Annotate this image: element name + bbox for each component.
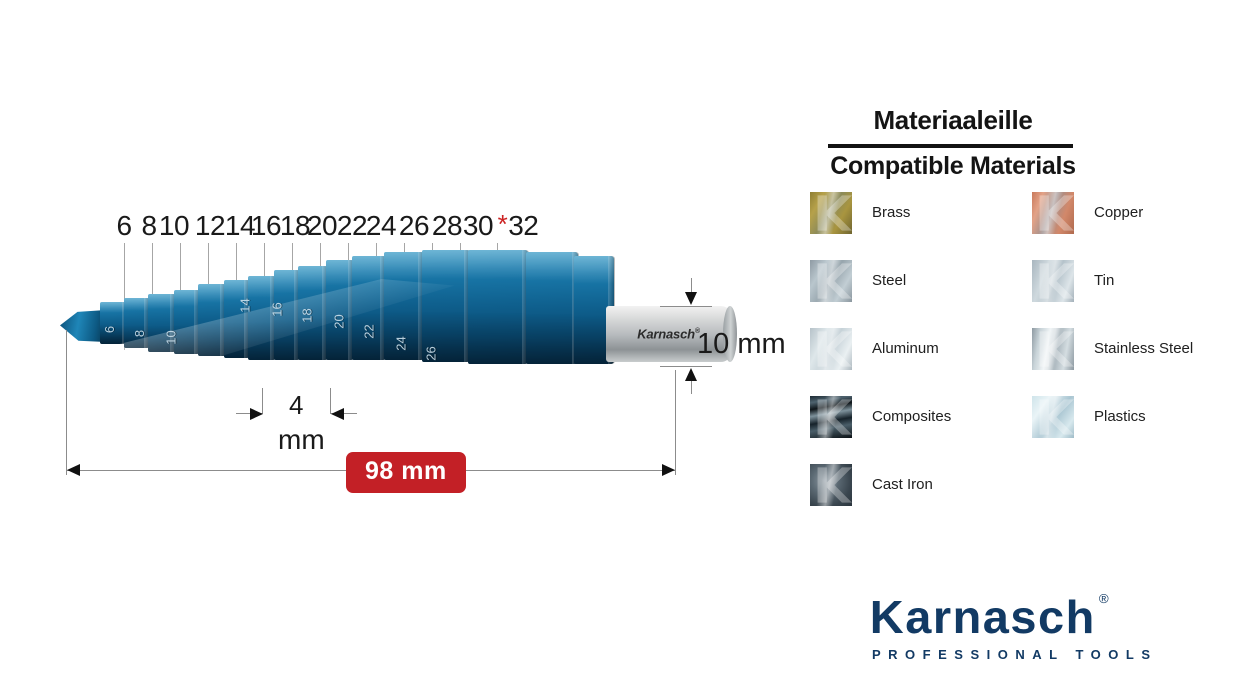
material-label: Aluminum: [872, 340, 939, 357]
shank-dia-arrow-down: [685, 292, 697, 305]
drill-step-14: [468, 250, 528, 364]
drill-step-13: [422, 250, 470, 362]
swatch-sheen: [810, 328, 852, 370]
swatch-sheen: [810, 396, 852, 438]
material-label: Stainless Steel: [1094, 340, 1193, 357]
step-size-8: 8: [141, 212, 156, 240]
registered-trademark-icon: ®: [1099, 592, 1110, 605]
step-size-12: 12: [195, 212, 225, 240]
step-size-label: 8: [141, 210, 156, 241]
step-size-18: 18: [280, 212, 310, 240]
materials-column-left: BrassSteelAluminumCompositesCast Iron: [810, 192, 1032, 532]
tin-swatch: [1032, 260, 1074, 302]
material-item: Brass: [810, 192, 1032, 260]
aluminum-swatch: [810, 328, 852, 370]
asterisk-icon: *: [498, 209, 508, 239]
length-arrow-left: [67, 464, 80, 476]
karnasch-logo: Karnasch ® PROFESSIONAL TOOLS: [872, 594, 1192, 664]
step-size-label: 10: [159, 210, 189, 241]
engraved-size-26: 26: [424, 346, 439, 360]
brand-wordmark: Karnasch ®: [870, 594, 1096, 640]
brand-tagline: PROFESSIONAL TOOLS: [872, 647, 1192, 662]
shank-diameter-value: 10 mm: [697, 328, 786, 361]
shank-dia-ext-bottom: [660, 366, 712, 367]
shank-dia-arrow-up: [685, 368, 697, 381]
step-size-label: 26: [399, 210, 429, 241]
drill-step-7: [248, 276, 276, 360]
step-size-24: 24: [366, 212, 396, 240]
engraved-size-10: 10: [164, 330, 179, 344]
step-size-label: 30: [463, 210, 493, 241]
material-label: Composites: [872, 408, 951, 425]
plastics-swatch: [1032, 396, 1074, 438]
drill-step-10: [326, 260, 354, 360]
step-size-scale: 681012141618202224262830*32: [108, 198, 578, 240]
step-height-unit: mm: [278, 424, 325, 456]
materials-column-right: CopperTinStainless SteelPlastics: [1032, 192, 1244, 464]
engraved-size-24: 24: [394, 336, 409, 350]
engraved-size-16: 16: [270, 302, 285, 316]
step-size-label: 32: [508, 210, 538, 241]
material-item: Steel: [810, 260, 1032, 328]
step-size-label: 12: [195, 210, 225, 241]
material-label: Steel: [872, 272, 906, 289]
stainless-steel-swatch: [1032, 328, 1074, 370]
step-size-6: 6: [116, 212, 131, 240]
material-item: Composites: [810, 396, 1032, 464]
material-item: Copper: [1032, 192, 1244, 260]
step-size-label: 24: [366, 210, 396, 241]
swatch-sheen: [810, 260, 852, 302]
materials-title-divider: [828, 144, 1073, 148]
materials-title-english: Compatible Materials: [828, 152, 1078, 181]
engraved-size-22: 22: [362, 324, 377, 338]
copper-swatch: [1032, 192, 1074, 234]
material-label: Plastics: [1094, 408, 1146, 425]
engraved-size-18: 18: [300, 308, 315, 322]
step-size-label: 28: [432, 210, 462, 241]
step-size-28: 28: [432, 212, 462, 240]
step-height-value: 4: [289, 390, 303, 421]
engraved-size-6: 6: [102, 326, 117, 333]
step-height-arrow-right: [250, 408, 263, 420]
brass-swatch: [810, 192, 852, 234]
length-ext-right: [675, 370, 676, 475]
step-size-20: 20: [307, 212, 337, 240]
total-length-badge: 98 mm: [346, 452, 466, 493]
step-size-label: 6: [116, 210, 131, 241]
swatch-sheen: [1032, 328, 1074, 370]
step-size-32: *32: [498, 211, 539, 240]
step-size-22: 22: [337, 212, 367, 240]
composites-swatch: [810, 396, 852, 438]
engraved-size-14: 14: [238, 298, 253, 312]
material-label: Brass: [872, 204, 910, 221]
swatch-sheen: [810, 192, 852, 234]
material-item: Tin: [1032, 260, 1244, 328]
swatch-sheen: [1032, 396, 1074, 438]
swatch-sheen: [1032, 260, 1074, 302]
engraved-size-8: 8: [132, 330, 147, 337]
step-size-label: 20: [307, 210, 337, 241]
material-label: Cast Iron: [872, 476, 933, 493]
brand-name-text: Karnasch: [870, 591, 1096, 643]
material-label: Copper: [1094, 204, 1143, 221]
product-diagram-panel: 681012141618202224262830*32 681014161820…: [0, 0, 800, 700]
length-arrow-right: [662, 464, 675, 476]
step-height-arrow-left: [331, 408, 344, 420]
steel-swatch: [810, 260, 852, 302]
step-size-10: 10: [159, 212, 189, 240]
step-drill-bit-image: 681014161820222426 Karnasch®: [60, 250, 685, 395]
step-size-30: 30: [463, 212, 493, 240]
material-item: Aluminum: [810, 328, 1032, 396]
step-size-label: 16: [251, 210, 281, 241]
swatch-sheen: [810, 464, 852, 506]
drill-step-15: [526, 252, 578, 364]
step-size-label: 18: [280, 210, 310, 241]
step-size-26: 26: [399, 212, 429, 240]
material-item: Stainless Steel: [1032, 328, 1244, 396]
drill-step-5: [198, 284, 226, 356]
step-size-label: 22: [337, 210, 367, 241]
material-item: Cast Iron: [810, 464, 1032, 532]
step-size-16: 16: [251, 212, 281, 240]
drill-step-6: [224, 280, 250, 358]
material-item: Plastics: [1032, 396, 1244, 464]
shank-dia-ext-top: [660, 306, 712, 307]
length-ext-left: [66, 330, 67, 475]
swatch-sheen: [1032, 192, 1074, 234]
materials-title-native: Materiaaleille: [828, 105, 1078, 136]
engraved-size-20: 20: [332, 314, 347, 328]
cast-iron-swatch: [810, 464, 852, 506]
material-label: Tin: [1094, 272, 1114, 289]
drill-step-2: [124, 298, 150, 348]
drill-step-11: [352, 256, 386, 360]
